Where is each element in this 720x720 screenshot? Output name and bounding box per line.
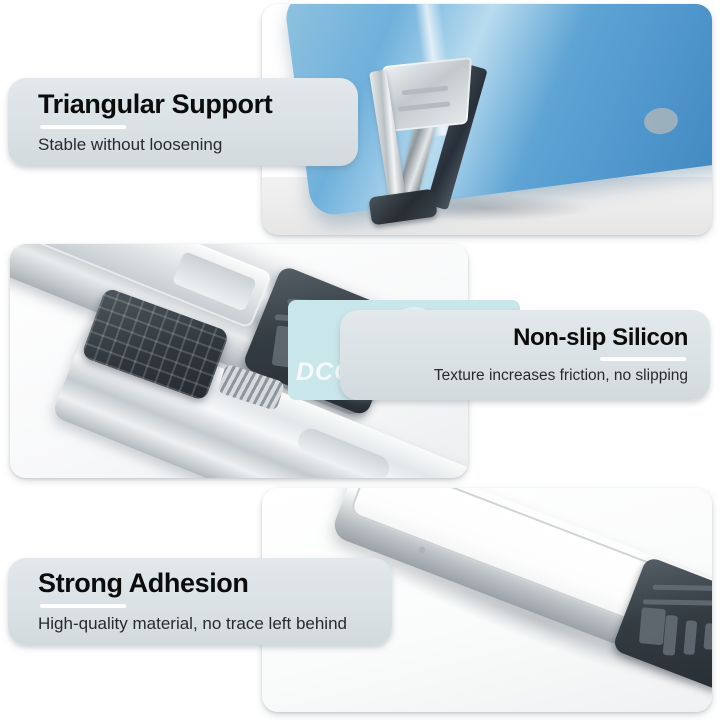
feature-caption-non-slip-silicon: Non-slip Silicon Texture increases frict… [340,310,710,400]
caption-divider-rule [600,357,686,361]
feature-title: Triangular Support [38,90,358,118]
silicone-rib [639,607,666,645]
caption-divider-rule [40,604,126,608]
feature-caption-triangular-support: Triangular Support Stable without loosen… [8,78,358,166]
feature-title: Strong Adhesion [38,569,392,597]
feature-title: Non-slip Silicon [513,325,688,350]
feature-subtitle: High-quality material, no trace left beh… [38,614,392,634]
silicone-rib [703,623,712,650]
silicone-rib [653,585,712,591]
feature-subtitle: Texture increases friction, no slipping [434,367,688,385]
silicone-rib [663,615,678,656]
silicone-rib [643,599,712,605]
feature-subtitle: Stable without loosening [38,135,358,155]
feature-caption-strong-adhesion: Strong Adhesion High-quality material, n… [8,558,392,645]
caption-divider-rule [40,125,126,129]
silicone-rib [683,620,697,655]
